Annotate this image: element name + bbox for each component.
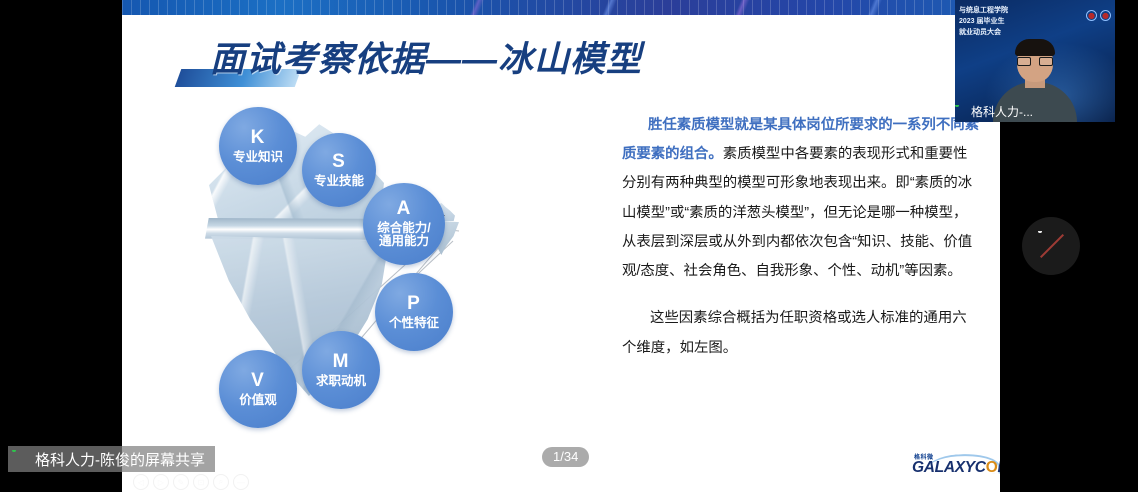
page-title: 面试考察依据——冰山模型 <box>210 31 642 82</box>
bubble-label: 专业技能 <box>314 175 364 188</box>
bubble-code: A <box>397 199 412 219</box>
body-paragraph-2: 这些因素综合概括为任职资格或选人标准的通用六个维度，如左图。 <box>622 304 980 362</box>
bubble-code: V <box>251 371 265 391</box>
bubble-ability[interactable]: A 综合能力/ 通用能力 <box>363 183 445 265</box>
bubble-code: P <box>407 294 421 314</box>
vbg-line-2: 2023 届毕业生 <box>959 17 1008 28</box>
bubble-label-line2: 通用能力 <box>377 235 430 248</box>
bubble-code: S <box>332 152 346 172</box>
slide-body-text: 胜任素质模型就是某具体岗位所要求的一系列不同素质要素的组合。素质模型中各要素的表… <box>622 111 980 363</box>
logo-word-part-o: O <box>986 459 998 476</box>
bubble-values[interactable]: V 价值观 <box>219 350 297 428</box>
meeting-screen-share-window: 面试考察依据——冰山模型 <box>0 0 1138 492</box>
vbg-line-1: 与统息工程学院 <box>959 6 1008 17</box>
glasses-icon <box>1017 57 1053 66</box>
vbg-line-3: 就业动员大会 <box>959 28 1008 39</box>
logo-wordmark: GALAXYCORE <box>912 459 1000 477</box>
bubble-label: 个性特征 <box>389 317 439 330</box>
galaxycore-logo: 格科微 GALAXYCORE <box>912 452 1000 484</box>
screen-share-label: 格科人力-陈俊的屏幕共享 <box>35 449 205 470</box>
virtual-background-emblems <box>1086 10 1111 21</box>
microphone-icon <box>14 450 28 468</box>
desktop-banner-strip <box>122 0 1000 15</box>
participant-video-tile[interactable]: 与统息工程学院 2023 届毕业生 就业动员大会 格科人力-... <box>955 0 1115 122</box>
bubble-motivation[interactable]: M 求职动机 <box>302 331 380 409</box>
bubble-label: 综合能力/ 通用能力 <box>377 222 430 248</box>
iceberg-model-diagram: K 专业知识 S 专业技能 A 综合能力/ 通用能力 P 个性特征 M 求职动机 <box>177 95 597 435</box>
bubble-label: 求职动机 <box>316 375 366 388</box>
mic-muted-badge[interactable] <box>1022 217 1080 275</box>
bubble-code: K <box>251 128 266 148</box>
toolbar-zoom-icon[interactable]: ⌕ <box>213 474 229 490</box>
toolbar-next-button[interactable]: ▷ <box>153 474 169 490</box>
bubble-skill[interactable]: S 专业技能 <box>302 133 376 207</box>
microphone-icon <box>957 105 968 119</box>
logo-word-part-b: RE <box>997 459 1000 476</box>
toolbar-minimize-icon[interactable]: — <box>233 474 249 490</box>
page-indicator: 1/34 <box>542 447 589 467</box>
bubble-label: 价值观 <box>239 394 277 407</box>
screen-share-label-bar: 格科人力-陈俊的屏幕共享 <box>8 446 215 472</box>
toolbar-save-icon[interactable]: ⊡ <box>193 474 209 490</box>
virtual-background-text: 与统息工程学院 2023 届毕业生 就业动员大会 <box>959 6 1008 39</box>
slide-title-block: 面试考察依据——冰山模型 <box>162 29 722 91</box>
body-rest: 素质模型中各要素的表现形式和重要性分别有两种典型的模型可形象地表现出来。即“素质… <box>622 146 972 279</box>
toolbar-prev-button[interactable]: ◁ <box>133 474 149 490</box>
participant-name: 格科人力-... <box>971 103 1033 120</box>
bubble-knowledge[interactable]: K 专业知识 <box>219 107 297 185</box>
bubble-personality[interactable]: P 个性特征 <box>375 273 453 351</box>
bubble-label: 专业知识 <box>233 151 283 164</box>
shared-slide: 面试考察依据——冰山模型 <box>122 15 1000 492</box>
logo-word-part-a: GALAXYC <box>912 459 986 476</box>
participant-name-badge: 格科人力-... <box>957 103 1033 120</box>
annotation-toolbar[interactable]: ◁ ▷ ✎ ⊡ ⌕ — <box>133 474 249 490</box>
bubble-code: M <box>333 352 350 372</box>
body-paragraph-1: 胜任素质模型就是某具体岗位所要求的一系列不同素质要素的组合。素质模型中各要素的表… <box>622 111 980 286</box>
toolbar-pen-icon[interactable]: ✎ <box>173 474 189 490</box>
